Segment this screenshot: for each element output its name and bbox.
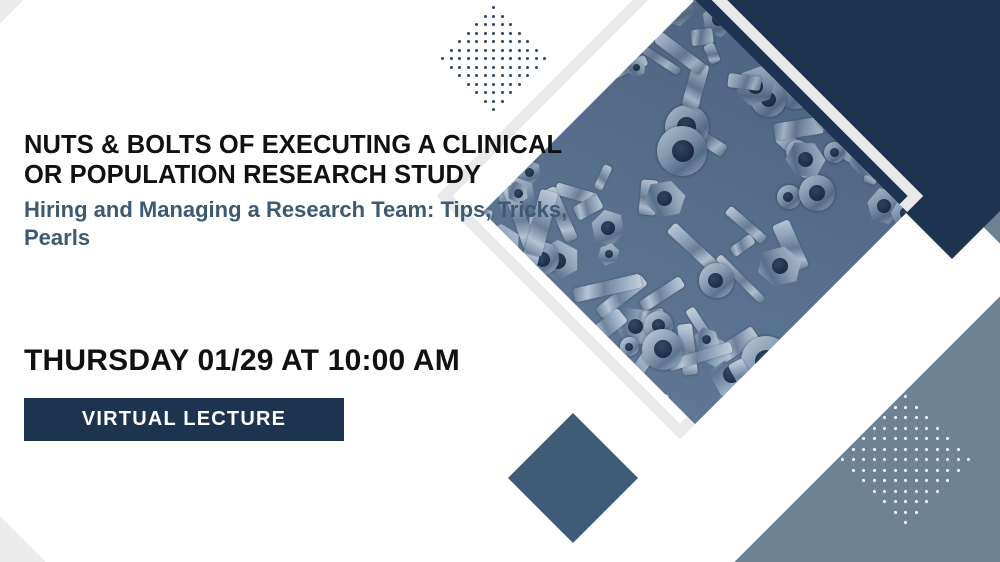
status-badge: VIRTUAL LECTURE <box>24 398 344 441</box>
event-datetime: THURSDAY 01/29 AT 10:00 AM <box>24 343 584 379</box>
page-title: NUTS & BOLTS OF EXECUTING A CLINICAL OR … <box>24 130 604 190</box>
dot-pattern-bottom <box>840 395 980 535</box>
badge-label: VIRTUAL LECTURE <box>82 408 286 431</box>
page-subtitle: Hiring and Managing a Research Team: Tip… <box>24 196 584 252</box>
content-block: NUTS & BOLTS OF EXECUTING A CLINICAL OR … <box>24 0 624 562</box>
event-poster: NUTS & BOLTS OF EXECUTING A CLINICAL OR … <box>0 0 1000 562</box>
